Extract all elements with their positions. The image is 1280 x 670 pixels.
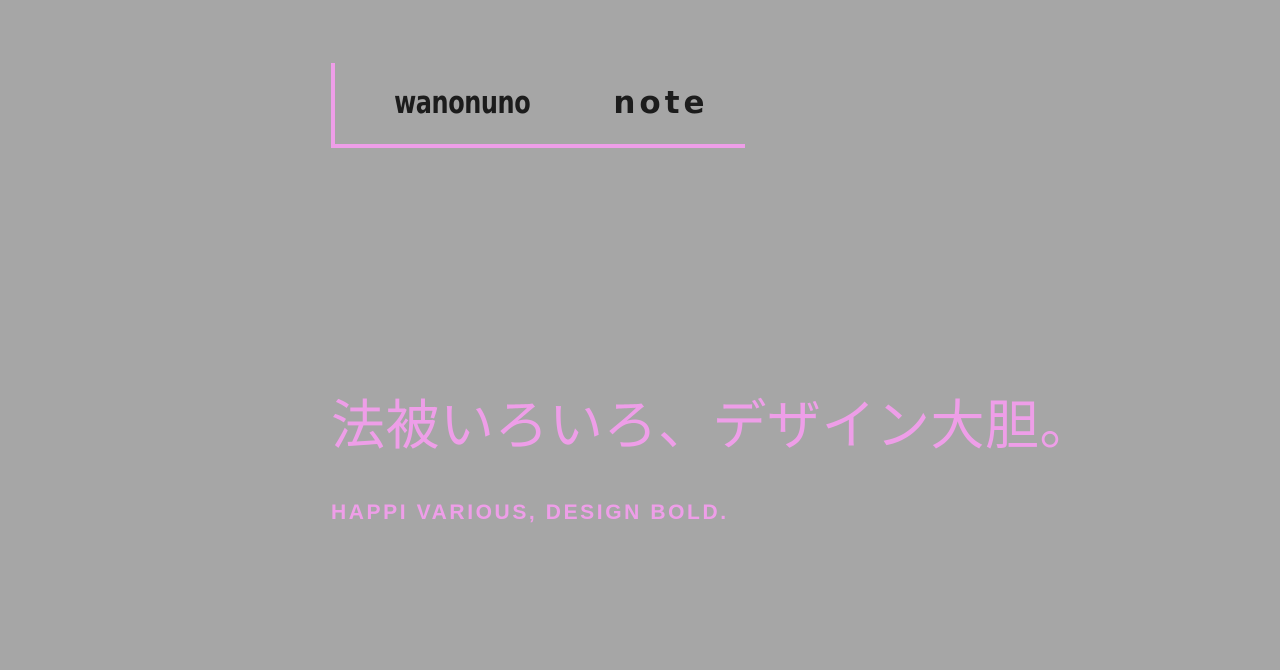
cover-canvas: wanonuno note 法被いろいろ、デザイン大胆。 HAPPI VARIO… [0,0,1280,670]
headline-english: HAPPI VARIOUS, DESIGN BOLD. [331,501,1231,524]
brand-wordmark: wanonuno [394,88,530,119]
accent-rule-horizontal [331,144,745,148]
accent-rule-vertical [331,63,335,148]
headline-block: 法被いろいろ、デザイン大胆。 HAPPI VARIOUS, DESIGN BOL… [331,396,1231,525]
brand-sub-wordmark: note [613,88,708,119]
brand-lockup: wanonuno note [383,88,709,119]
headline-japanese: 法被いろいろ、デザイン大胆。 [331,396,1231,456]
